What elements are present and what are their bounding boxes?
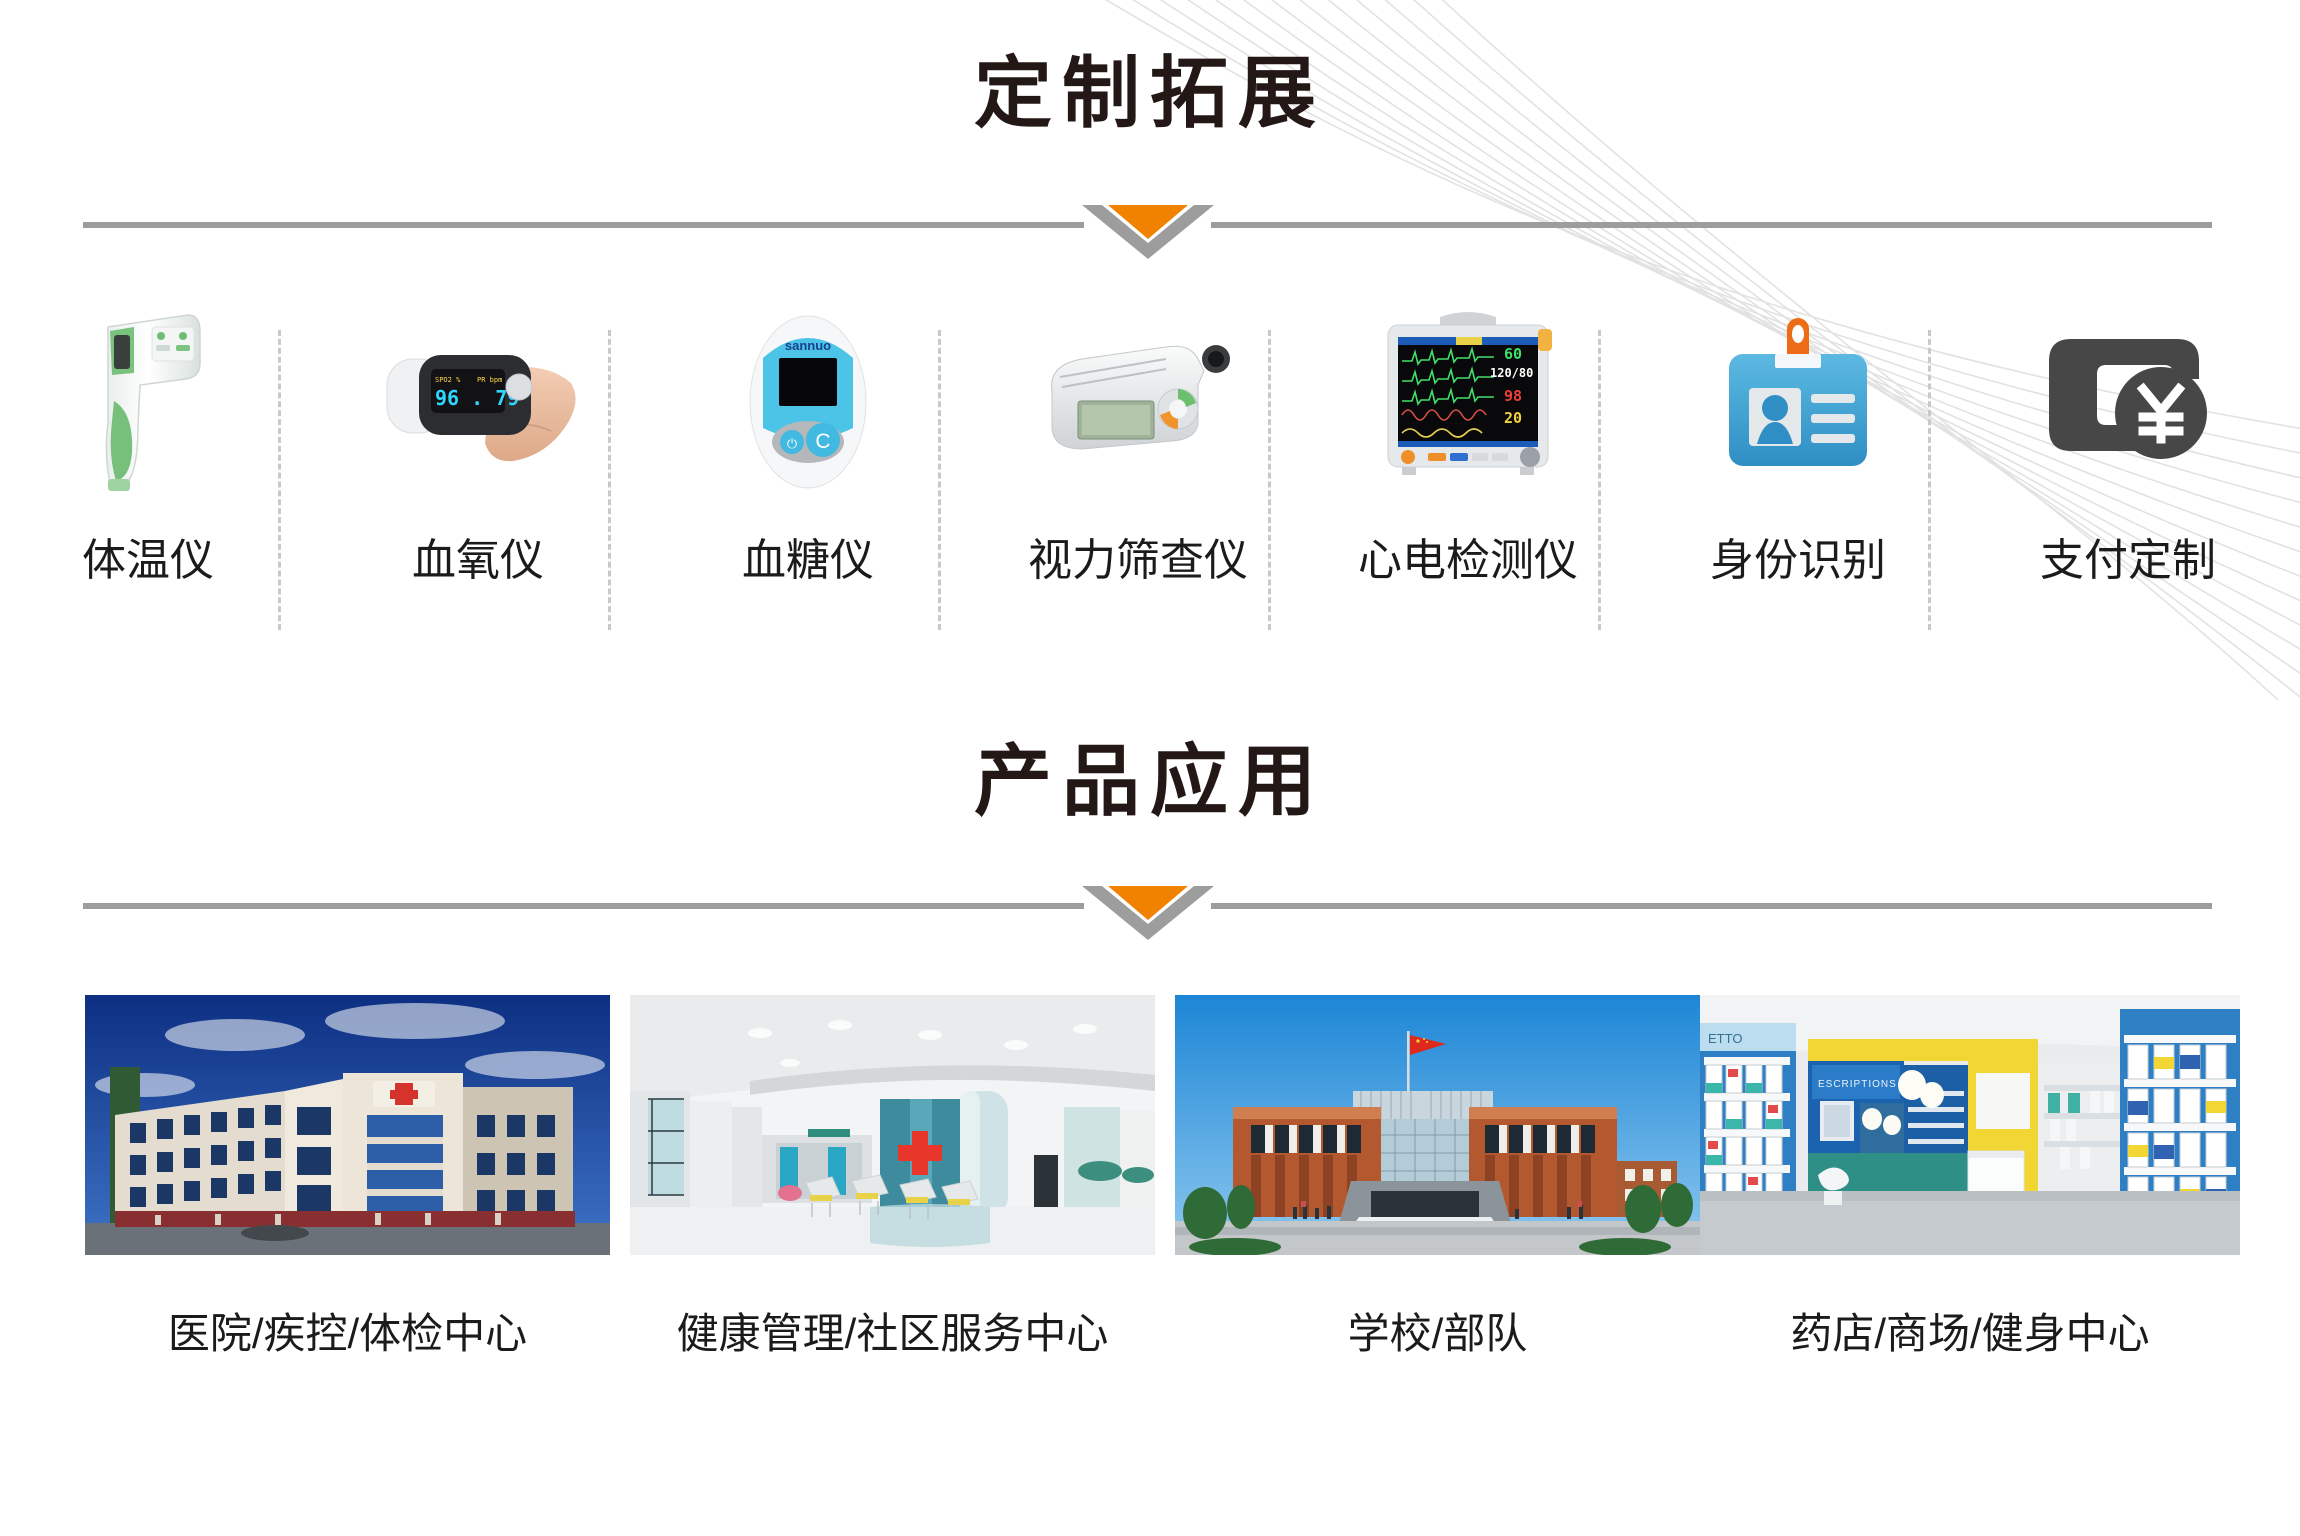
svg-text:C: C (815, 430, 830, 453)
application-item-school[interactable]: 学校/部队 (1175, 995, 1700, 1361)
product-label: 心电检测仪 (1358, 524, 1578, 588)
ecg-hr: 60 (1504, 345, 1522, 363)
school-building-photo (1175, 995, 1700, 1255)
pharmacy-interior-photo: ESCRIPTIONS (1700, 995, 2240, 1255)
item-divider (1598, 330, 1601, 630)
hospital-building-photo (85, 995, 610, 1255)
item-divider (608, 330, 611, 630)
vision-screener-icon (1038, 300, 1238, 500)
item-divider (1268, 330, 1271, 630)
item-divider (1928, 330, 1931, 630)
application-item-health-center[interactable]: 健康管理/社区服务中心 (630, 995, 1155, 1361)
application-label: 医院/疾控/体检中心 (85, 1300, 610, 1361)
section-title-custom-expansion: 定制拓展 (0, 54, 2300, 132)
ecg-resp: 20 (1504, 409, 1522, 427)
svg-text:PR bpm: PR bpm (477, 376, 502, 384)
application-label: 药店/商场/健身中心 (1700, 1300, 2240, 1361)
application-item-hospital[interactable]: 医院/疾控/体检中心 (85, 995, 610, 1361)
application-label: 健康管理/社区服务中心 (630, 1300, 1155, 1361)
product-label: 支付定制 (2040, 524, 2216, 588)
item-divider (278, 330, 281, 630)
product-label: 体温仪 (82, 524, 214, 588)
product-item-vision-screener[interactable]: 视力筛查仪 (1010, 300, 1266, 640)
product-item-oximeter[interactable]: SPO2 % PR bpm 96 . 79 血氧仪 (350, 300, 606, 640)
product-item-id-recognition[interactable]: 身份识别 (1670, 300, 1926, 640)
item-divider (938, 330, 941, 630)
chevron-down-icon (1082, 886, 1214, 944)
product-item-thermometer[interactable]: 体温仪 (20, 300, 276, 640)
application-photo-row: 医院/疾控/体检中心 (0, 995, 2300, 1455)
product-item-payment[interactable]: 支付定制 (2000, 300, 2256, 640)
application-item-pharmacy[interactable]: ESCRIPTIONS (1700, 995, 2240, 1361)
product-item-ecg-monitor[interactable]: 60 120/80 98 20 心电检测仪 (1340, 300, 1596, 640)
divider-bar-left (83, 903, 1084, 909)
ecg-monitor-icon: 60 120/80 98 20 (1378, 300, 1558, 500)
health-center-interior-photo (630, 995, 1155, 1255)
ecg-spo2: 98 (1504, 387, 1522, 405)
poster-page: 定制拓展 (0, 0, 2300, 1536)
svg-text:⏻: ⏻ (787, 437, 797, 452)
product-icon-row: 体温仪 SPO2 % PR bpm 96 . 79 (0, 300, 2300, 640)
glucose-brand: sannuo (785, 338, 831, 353)
divider-bar-right (1211, 903, 2212, 909)
product-label: 视力筛查仪 (1028, 524, 1248, 588)
payment-wallet-yuan-icon (2043, 300, 2213, 500)
id-card-icon (1713, 300, 1883, 500)
glucose-meter-icon: sannuo ⏻ C (743, 300, 873, 500)
section-divider-2 (83, 886, 2212, 946)
product-label: 血糖仪 (742, 524, 874, 588)
ecg-nibp: 120/80 (1490, 366, 1533, 380)
application-label: 学校/部队 (1175, 1300, 1700, 1361)
svg-text:ETTO: ETTO (1708, 1031, 1742, 1046)
pulse-oximeter-icon: SPO2 % PR bpm 96 . 79 (373, 300, 583, 500)
chevron-down-icon (1082, 205, 1214, 263)
product-label: 身份识别 (1710, 524, 1886, 588)
svg-text:ESCRIPTIONS: ESCRIPTIONS (1818, 1079, 1897, 1090)
product-label: 血氧仪 (412, 524, 544, 588)
product-item-glucose-meter[interactable]: sannuo ⏻ C 血糖仪 (680, 300, 936, 640)
divider-bar-right (1211, 222, 2212, 228)
infrared-thermometer-icon (88, 300, 208, 500)
divider-bar-left (83, 222, 1084, 228)
svg-text:SPO2 %: SPO2 % (435, 376, 461, 384)
section-divider-1 (83, 205, 2212, 265)
section-title-product-application: 产品应用 (0, 742, 2300, 820)
